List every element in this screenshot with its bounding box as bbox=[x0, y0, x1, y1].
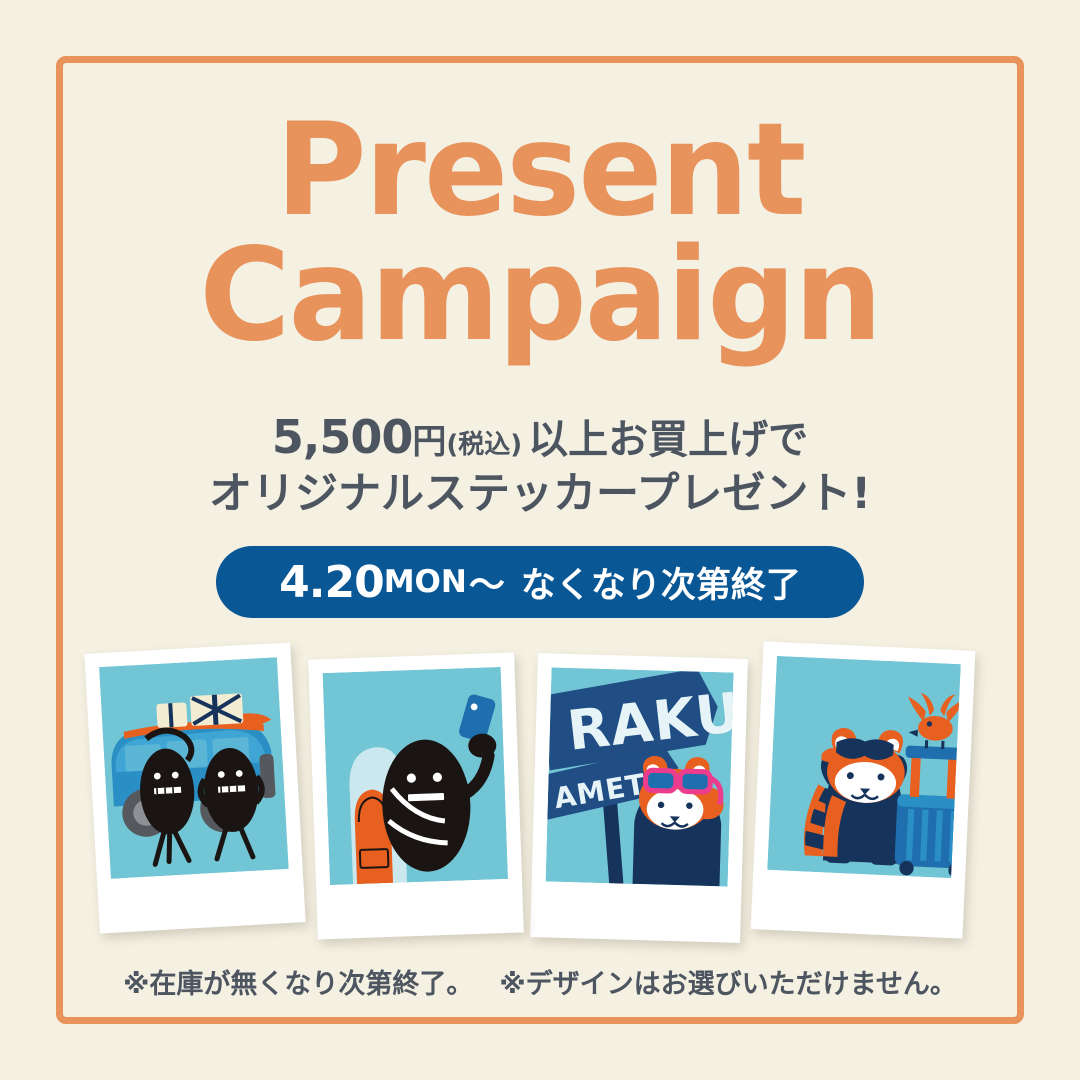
sticker-illustration-red-panda-signpost: RAKU AMETA bbox=[546, 668, 734, 887]
subtitle-condition: 以上お買上げで bbox=[528, 417, 808, 463]
campaign-period-badge: 4.20MON〜なくなり次第終了 bbox=[216, 546, 864, 618]
sticker-card-red-panda-signpost: RAKU AMETA bbox=[530, 653, 748, 943]
sticker-card-bean-characters-with-van bbox=[84, 642, 305, 933]
yen-symbol: 円 bbox=[412, 422, 446, 462]
page-title: Present Campaign bbox=[0, 108, 1080, 359]
sticker-photo-frame bbox=[767, 656, 961, 878]
campaign-start-date: 4.20 bbox=[279, 557, 384, 608]
sticker-card-bean-character-selfie bbox=[308, 652, 524, 939]
headline-line-2: Campaign bbox=[16, 233, 1064, 358]
footnote-stock: ※在庫が無くなり次第終了。 bbox=[123, 969, 473, 1000]
campaign-start-weekday: MON bbox=[384, 564, 467, 600]
footnote-design: ※デザインはお選びいただけません。 bbox=[499, 969, 956, 1000]
subtitle-line-2: オリジナルステッカープレゼント! bbox=[0, 467, 1080, 522]
subtitle-line-1: 5,500円(税込)以上お買上げで bbox=[0, 408, 1080, 467]
promo-poster: Present Campaign 5,500円(税込)以上お買上げで オリジナル… bbox=[0, 0, 1080, 1080]
tax-included-note: (税込) bbox=[446, 430, 522, 460]
date-range-tilde: 〜 bbox=[469, 556, 505, 608]
purchase-amount: 5,500 bbox=[272, 410, 413, 464]
sticker-card-red-panda-suitcase bbox=[751, 641, 976, 938]
sticker-photo-frame bbox=[323, 667, 508, 885]
sticker-photo-frame bbox=[99, 657, 289, 879]
sticker-illustration-red-panda-suitcase bbox=[767, 656, 961, 878]
sticker-illustration-bean-characters-with-van bbox=[99, 657, 289, 879]
headline-line-1: Present bbox=[16, 108, 1064, 233]
sticker-gallery: RAKU AMETA bbox=[0, 628, 1080, 958]
campaign-end-condition: なくなり次第終了 bbox=[521, 557, 801, 608]
sticker-illustration-bean-character-selfie bbox=[323, 667, 508, 885]
campaign-subtitle: 5,500円(税込)以上お買上げで オリジナルステッカープレゼント! bbox=[0, 408, 1080, 522]
sticker-photo-frame: RAKU AMETA bbox=[546, 668, 734, 887]
footnote-row: ※在庫が無くなり次第終了。※デザインはお選びいただけません。 bbox=[0, 962, 1080, 1001]
